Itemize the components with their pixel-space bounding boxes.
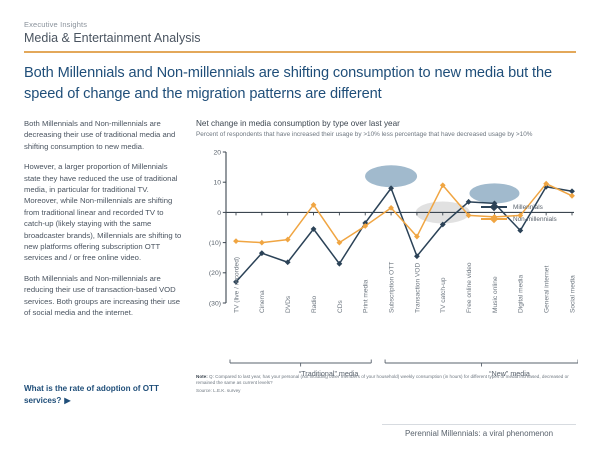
x-axis-label: DVDs <box>285 295 292 313</box>
data-point-marker[interactable] <box>233 238 239 244</box>
legend-label-millennials: Millennials <box>513 204 543 211</box>
left-text-column: Both Millennials and Non-millennials are… <box>24 118 182 328</box>
data-point-marker[interactable] <box>569 193 575 199</box>
legend-item-non-millennials[interactable]: Non-millennials <box>481 213 581 225</box>
header-kicker: Executive Insights <box>24 20 576 30</box>
footer-text: Perennial Millennials: a viral phenomeno… <box>382 429 576 438</box>
legend-swatch-millennials <box>481 206 507 208</box>
slide-page: Executive Insights Media & Entertainment… <box>0 0 600 463</box>
chart-title: Net change in media consumption by type … <box>196 118 578 129</box>
chart-container: Net change in media consumption by type … <box>196 118 578 408</box>
x-axis-label: General internet <box>544 266 551 313</box>
chart-plot-area: 20100(10)(20)(30)TV (live / recorded)Cin… <box>196 146 578 381</box>
x-axis-label: Digital media <box>518 275 525 313</box>
y-tick-label: (20) <box>209 270 221 277</box>
footer-rule <box>382 424 576 425</box>
x-axis-label: Music online <box>492 276 499 313</box>
x-axis-label: TV catch-up <box>440 277 447 313</box>
y-tick-label: 10 <box>213 180 221 187</box>
chart-footnote: Note: Q: Compared to last year, has your… <box>196 374 574 394</box>
play-triangle-icon: ▶ <box>64 395 70 407</box>
chart-legend: Millennials Non-millennials <box>481 201 581 225</box>
legend-label-non-millennials: Non-millennials <box>513 216 557 223</box>
y-tick-label: (10) <box>209 240 221 247</box>
header-title: Media & Entertainment Analysis <box>24 31 576 46</box>
footnote-source: Source: L.E.K. survey <box>196 388 574 394</box>
cta-label: What is the rate of adoption of OTT serv… <box>24 384 159 405</box>
page-headline: Both Millennials and Non-millennials are… <box>24 63 564 105</box>
highlight-subscription-ott <box>365 165 417 187</box>
header-rule <box>24 51 576 53</box>
line-chart-svg: 20100(10)(20)(30)TV (live / recorded)Cin… <box>196 146 578 381</box>
x-axis-label: Radio <box>311 295 318 313</box>
x-axis-label: Transaction VOD <box>414 262 421 313</box>
chart-subtitle: Percent of respondents that have increas… <box>196 130 578 139</box>
y-tick-label: 20 <box>213 149 221 156</box>
x-axis-label: Print media <box>363 279 370 313</box>
x-axis-label: Cinema <box>259 290 266 313</box>
body-paragraph-2: However, a larger proportion of Millenni… <box>24 161 182 264</box>
cta-link[interactable]: What is the rate of adoption of OTT serv… <box>24 383 189 406</box>
x-axis-label: Subscription OTT <box>388 262 395 313</box>
legend-swatch-non-millennials <box>481 218 507 220</box>
x-axis-label: Free online video <box>466 262 473 313</box>
document-header: Executive Insights Media & Entertainment… <box>24 20 576 46</box>
y-tick-label: (30) <box>209 300 221 307</box>
x-axis-label: Social media <box>569 275 576 313</box>
body-paragraph-1: Both Millennials and Non-millennials are… <box>24 118 182 152</box>
data-point-marker[interactable] <box>259 240 265 246</box>
body-paragraph-3: Both Millennials and Non-millennials are… <box>24 273 182 319</box>
footnote-note-label: Note: <box>196 374 208 379</box>
footnote-note-text: Q: Compared to last year, has your perso… <box>196 374 569 385</box>
footnote-note-line: Note: Q: Compared to last year, has your… <box>196 374 574 386</box>
x-axis-label: TV (live / recorded) <box>233 257 240 313</box>
x-axis-label: CDs <box>337 299 344 313</box>
y-tick-label: 0 <box>217 210 221 217</box>
legend-item-millennials[interactable]: Millennials <box>481 201 581 213</box>
